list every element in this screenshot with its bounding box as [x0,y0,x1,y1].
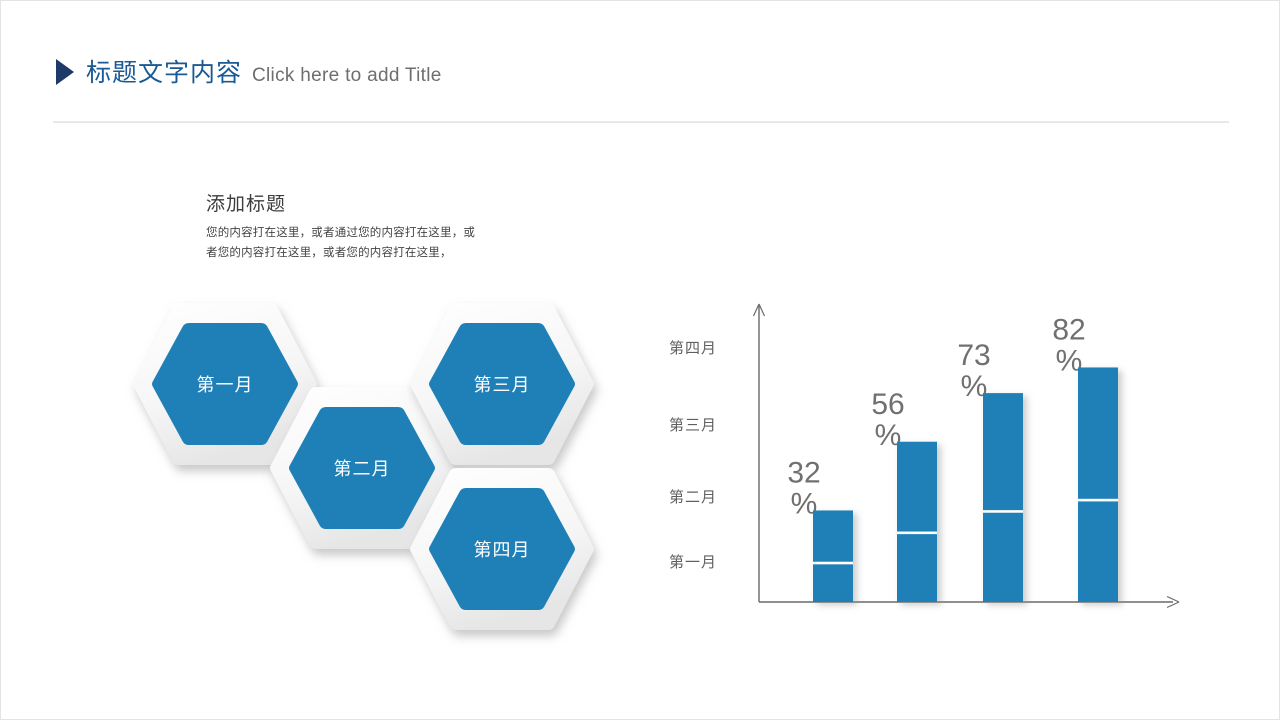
content-text-block: 添加标题 您的内容打在这里，或者通过您的内容打在这里，或者您的内容打在这里，或者… [206,189,486,263]
slide-canvas: 标题文字内容 Click here to add Title 添加标题 您的内容… [0,0,1280,720]
chart-y-tick-3: 第三月 [669,416,717,434]
hexagon-item-3[interactable]: 第三月 [409,301,595,467]
hexagon-item-4[interactable]: 第四月 [409,466,595,632]
chart-y-tick-4: 第四月 [669,339,717,357]
chart-y-tick-1: 第一月 [669,553,717,571]
chart-label-value-4: 82 [1052,313,1085,346]
header-divider [53,121,1229,123]
content-subtitle: 添加标题 [206,189,486,216]
chart-label-value-3: 73 [957,339,990,372]
chart-label-value-1: 32 [787,456,820,489]
chart-y-tick-2: 第二月 [669,488,717,506]
page-title: 标题文字内容 [86,53,242,89]
chart-label-value-2: 56 [871,388,904,421]
page-subtitle-en: Click here to add Title [252,65,442,87]
triangle-right-icon [56,59,74,85]
slide-header: 标题文字内容 Click here to add Title [56,53,442,89]
content-body: 您的内容打在这里，或者通过您的内容打在这里，或者您的内容打在这里，或者您的内容打… [206,223,478,263]
bar-chart: 第四月 第三月 第二月 第一月 [661,296,1201,626]
